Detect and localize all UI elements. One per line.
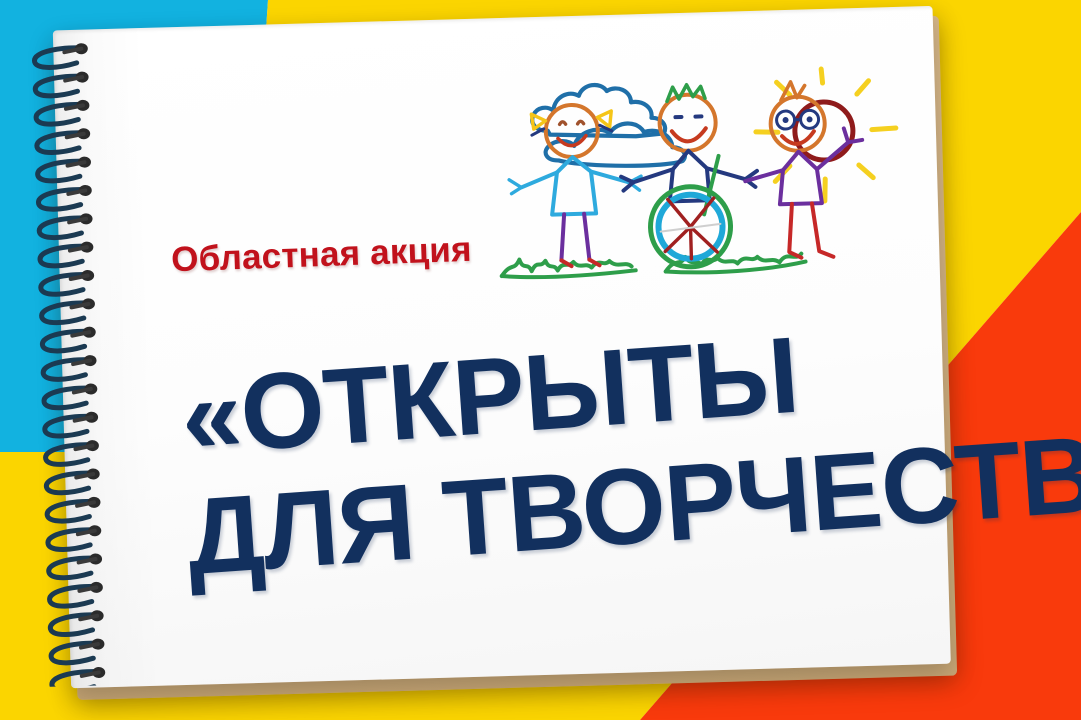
spiral-binding <box>24 35 128 687</box>
childrens-drawing <box>484 59 911 321</box>
child-left <box>507 103 643 268</box>
sun-icon <box>754 67 898 203</box>
poster-canvas: Областная акция «ОТКРЫТЫ ДЛЯ ТВОРЧЕСТВА» <box>0 0 1081 720</box>
grass <box>501 252 805 279</box>
spiral-notebook: Областная акция «ОТКРЫТЫ ДЛЯ ТВОРЧЕСТВА» <box>53 6 956 702</box>
